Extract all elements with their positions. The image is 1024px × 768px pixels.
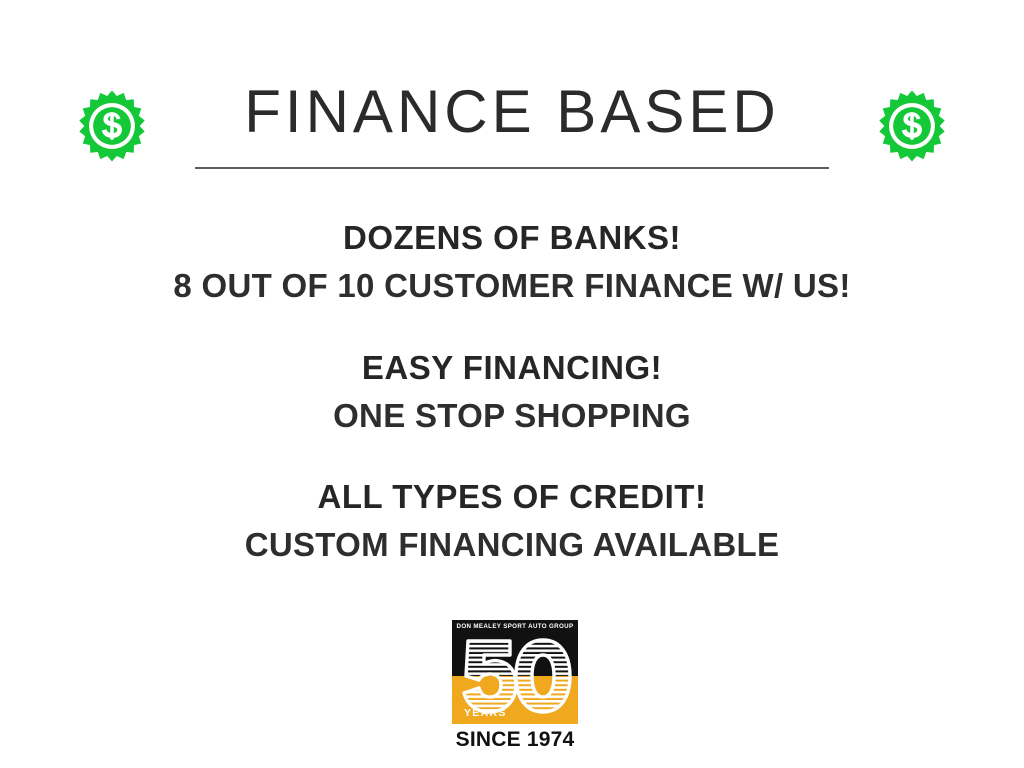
copy-block-credit: ALL TYPES OF CREDIT! CUSTOM FINANCING AV… — [0, 473, 1024, 569]
copy-block-banks: DOZENS OF BANKS! 8 OUT OF 10 CUSTOMER FI… — [0, 214, 1024, 310]
copy-headline-financing: EASY FINANCING! — [0, 344, 1024, 392]
logo-years-label: YEARS — [464, 708, 507, 719]
gear-dollar-icon-right — [875, 89, 949, 163]
copy-subline-credit: CUSTOM FINANCING AVAILABLE — [0, 521, 1024, 569]
page-title: FINANCE BASED — [244, 82, 779, 142]
copy-block-financing: EASY FINANCING! ONE STOP SHOPPING — [0, 344, 1024, 440]
slide-header: FINANCE BASED — [0, 78, 1024, 173]
title-group: FINANCE BASED — [195, 82, 829, 169]
logo-badge: DON MEALEY SPORT AUTO GROUP — [452, 620, 578, 724]
title-divider — [195, 167, 829, 169]
logo-brand-line: DON MEALEY SPORT AUTO GROUP — [452, 624, 578, 630]
copy-subline-financing: ONE STOP SHOPPING — [0, 392, 1024, 440]
slide-canvas: FINANCE BASED DOZENS OF BANKS! 8 OUT OF … — [0, 0, 1024, 768]
copy-headline-credit: ALL TYPES OF CREDIT! — [0, 473, 1024, 521]
body-copy: DOZENS OF BANKS! 8 OUT OF 10 CUSTOMER FI… — [0, 214, 1024, 569]
logo-since-line: SINCE 1974 — [452, 728, 578, 751]
gear-dollar-icon-left — [75, 89, 149, 163]
dealer-logo: DON MEALEY SPORT AUTO GROUP — [452, 620, 578, 751]
copy-headline-banks: DOZENS OF BANKS! — [0, 214, 1024, 262]
copy-subline-banks: 8 OUT OF 10 CUSTOMER FINANCE W/ US! — [0, 262, 1024, 310]
